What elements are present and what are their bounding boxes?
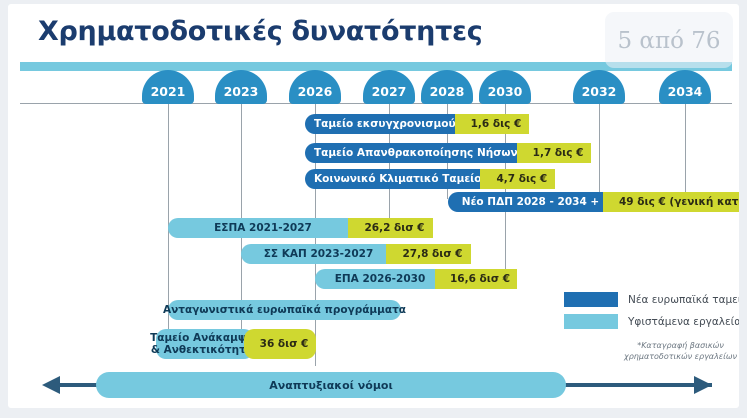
bar-label: Ανταγωνιστικά ευρωπαϊκά προγράμματα [168,300,401,320]
bar-koinoniko-klimatiko-tameio[interactable]: Κοινωνικό Κλιματικό Ταμείο 4,7 δις € [305,169,555,189]
year-bubble-2027: 2027 [363,70,415,104]
bar-value: 16,6 δισ € [435,269,517,289]
bar-anaptyxiakoi-nomoi[interactable]: Αναπτυξιακοί νόμοι [96,372,566,398]
year-bubble-2034: 2034 [659,70,711,104]
legend-label: Υφιστάμενα εργαλεία [628,316,739,328]
bar-tameio-eksygxronismou[interactable]: Ταμείο εκσυγχρονισμού 1,6 δις € [305,114,529,134]
bar-espa-2021-2027[interactable]: ΕΣΠΑ 2021-2027 26,2 δισ € [168,218,433,238]
page-indicator-text: 5 από 76 [605,28,733,54]
bar-value: 27,8 δισ € [386,244,471,264]
footnote-line-2: χρηματοδοτικών εργαλείων [608,351,739,362]
legend-item-existing-tools: Υφιστάμενα εργαλεία [564,314,739,329]
bar-value: 1,7 δις € [517,143,592,163]
bar-neo-pdp-2028-2034[interactable]: Νέο ΠΔΠ 2028 - 2034 + 49 δις € (γενική κ… [448,192,739,212]
legend-item-new-funds: Νέα ευρωπαϊκά ταμεία [564,292,739,307]
year-bubble-2028: 2028 [421,70,473,104]
slide-canvas: Χρηματοδοτικές δυνατότητες 5 από 76 2021… [8,4,739,408]
bar-value: 1,6 δις € [455,114,530,134]
bar-tameio-anakampsis-anthektikotitas[interactable]: Ταμείο Ανάκαμψης & Ανθεκτικότητας 36 δισ… [156,329,316,359]
bar-value: 26,2 δισ € [348,218,433,238]
bar-epa-2026-2030[interactable]: ΕΠΑ 2026-2030 16,6 δισ € [315,269,517,289]
bar-label: Κοινωνικό Κλιματικό Ταμείο [305,169,490,189]
bar-value: 4,7 δις € [480,169,555,189]
arrow-left-icon [42,376,60,394]
legend-footnote: *Καταγραφή βασικών χρηματοδοτικών εργαλε… [608,340,739,362]
year-bubble-2021: 2021 [142,70,194,104]
legend: Νέα ευρωπαϊκά ταμεία Υφιστάμενα εργαλεία [564,292,739,336]
page-title: Χρηματοδοτικές δυνατότητες [38,16,482,47]
bar-value: 49 δις € (γενική κατανομή) [603,192,739,212]
bar-label: Ταμείο Απανθρακοποίησης Νήσων [305,143,527,163]
bar-label: Ταμείο Ανάκαμψης & Ανθεκτικότητας [156,329,254,359]
bar-ss-kap-2023-2027[interactable]: ΣΣ ΚΑΠ 2023-2027 27,8 δισ € [241,244,471,264]
gridline-2032 [599,104,600,199]
bar-label-line-2: & Ανθεκτικότητας [151,344,259,356]
bar-label: ΕΠΑ 2026-2030 [315,269,445,289]
year-bubble-2032: 2032 [573,70,625,104]
gridline-2034 [685,104,686,199]
year-bubble-2023: 2023 [215,70,267,104]
year-bubble-2030: 2030 [479,70,531,104]
legend-label: Νέα ευρωπαϊκά ταμεία [628,294,739,306]
legend-swatch-dark-blue [564,292,618,307]
page-indicator-badge: 5 από 76 [605,12,733,68]
year-bubble-2026: 2026 [289,70,341,104]
bar-label: ΣΣ ΚΑΠ 2023-2027 [241,244,396,264]
bar-label: Ταμείο εκσυγχρονισμού [305,114,465,134]
bar-value: 36 δισ € [244,329,316,359]
bar-antagonistika-evropaika-programmata[interactable]: Ανταγωνιστικά ευρωπαϊκά προγράμματα [168,300,401,320]
bar-label: Νέο ΠΔΠ 2028 - 2034 + [448,192,613,212]
legend-swatch-light-blue [564,314,618,329]
bar-label: ΕΣΠΑ 2021-2027 [168,218,358,238]
footnote-line-1: *Καταγραφή βασικών [608,340,739,351]
bar-tameio-apanthrakopoiisis-nison[interactable]: Ταμείο Απανθρακοποίησης Νήσων 1,7 δις € [305,143,591,163]
arrow-right-icon [694,376,712,394]
